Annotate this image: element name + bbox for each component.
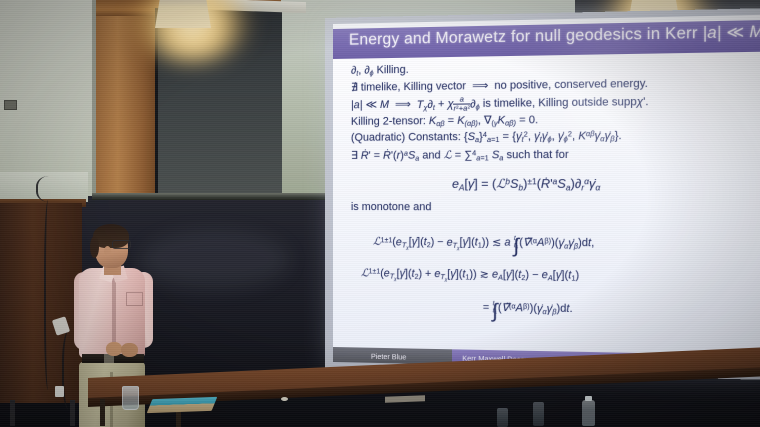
lectern-leg <box>10 400 15 426</box>
speaker-hand <box>121 343 138 357</box>
slide-line-6: ∃ Ṙ' = Ṙ'(r)aSa and ℒ = ∑4a=1 Sa such th… <box>351 148 569 163</box>
slide-body: ∂t, ∂ϕ Killing. ∄ timelike, Killing vect… <box>333 51 760 371</box>
slide-equation-1: ℒ1±1(eTχ[γ̇](t2) − eTχ[γ̇](t1)) ≲ a ∫t2t… <box>373 235 594 252</box>
slide-equation-3: = ∫t2t1(∇̃(αAβ))(γ̇αγ̇β)dt. <box>483 301 573 318</box>
speaker-hand <box>106 342 122 356</box>
slide-line-4: Killing 2-tensor: Kαβ = K(αβ), ∇(γKαβ) =… <box>351 113 538 129</box>
bottle-cap <box>585 396 592 401</box>
speaker-ear <box>104 246 111 256</box>
small-paper <box>281 397 288 401</box>
cable <box>44 200 54 390</box>
water-bottle <box>497 408 508 427</box>
slide-line-1: ∂t, ∂ϕ Killing. <box>351 64 409 78</box>
water-bottle <box>582 400 595 426</box>
table-leg <box>100 399 105 426</box>
cable <box>36 176 68 202</box>
shirt-pocket <box>126 292 143 306</box>
slide-equation-2: ℒ1±1(eTχ[γ̇](t2) + eTχ[γ̇](t1)) ≳ eA[γ̇]… <box>361 267 579 283</box>
glasses-icon <box>112 240 131 249</box>
water-bottle <box>533 402 544 426</box>
water-glass <box>122 386 139 410</box>
ceiling-lamp-left <box>155 0 211 28</box>
power-plug <box>55 386 64 397</box>
projected-slide: Energy and Morawetz for null geodesics i… <box>333 14 760 371</box>
slide-line-5: (Quadratic) Constants: {Sa}4a=1 = {γ̇t2,… <box>351 130 622 145</box>
slide-line-3: |a| ≪ M ⟹ Tχ∂t + χar2+a2∂ϕ is timelike, … <box>351 93 649 113</box>
slide-footer-author: Pieter Blue <box>371 352 406 362</box>
board-smudge <box>140 230 290 290</box>
lecture-hall-photo: Energy and Morawetz for null geodesics i… <box>0 0 760 427</box>
blue-booklet <box>147 397 218 413</box>
slide-line-7: is monotone and <box>351 201 432 213</box>
slide-line-2: ∄ timelike, Killing vector ⟹ no positive… <box>351 77 648 94</box>
speaker-hair-side <box>90 236 99 258</box>
slide-inline-equation: eA[γ̇] = (ℒbSb)±1(Ṙ'aSa)∂rαγ̇α <box>452 176 600 192</box>
wall-outlet <box>4 100 17 110</box>
